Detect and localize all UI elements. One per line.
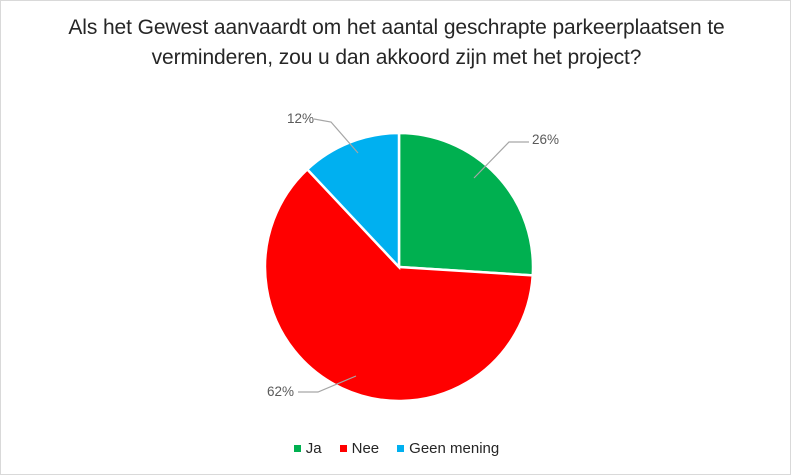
plot-area: 12% 26% 62% xyxy=(1,1,791,475)
chart-container: Als het Gewest aanvaardt om het aantal g… xyxy=(0,0,791,475)
pie-chart-svg xyxy=(1,1,791,475)
legend-swatch-ja xyxy=(294,445,301,452)
legend-swatch-geen-mening xyxy=(397,445,404,452)
data-label-nee: 62% xyxy=(267,384,294,399)
pie-slice-ja-wedge[interactable] xyxy=(399,133,533,275)
data-label-ja: 26% xyxy=(532,132,559,147)
legend-swatch-nee xyxy=(340,445,347,452)
legend-item-nee[interactable]: Nee xyxy=(340,441,380,456)
pie-slices xyxy=(399,133,533,275)
legend-label-nee: Nee xyxy=(352,441,380,456)
data-label-geen-mening: 12% xyxy=(287,111,314,126)
chart-legend: Ja Nee Geen mening xyxy=(1,441,791,456)
legend-label-geen-mening: Geen mening xyxy=(409,441,499,456)
legend-item-geen-mening[interactable]: Geen mening xyxy=(397,441,499,456)
legend-label-ja: Ja xyxy=(306,441,322,456)
legend-item-ja[interactable]: Ja xyxy=(294,441,322,456)
